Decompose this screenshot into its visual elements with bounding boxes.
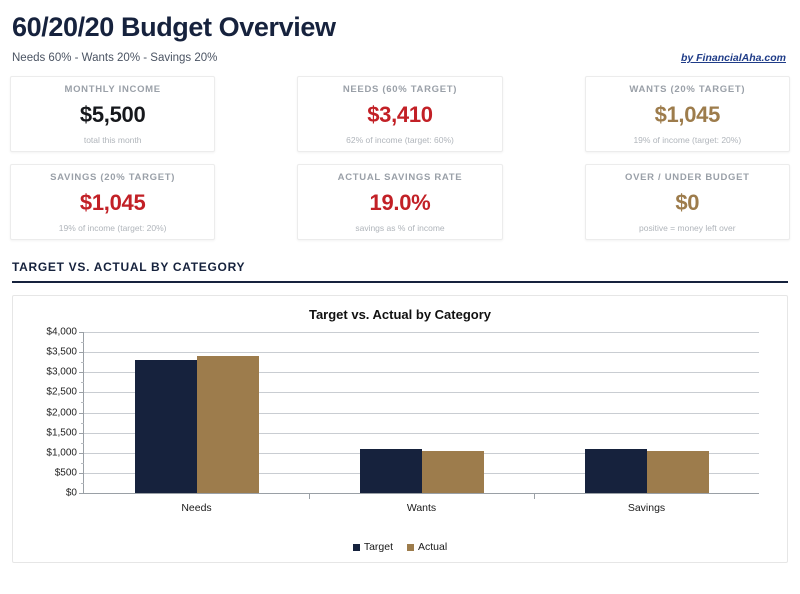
- chart-bar-target[interactable]: [585, 449, 647, 493]
- kpi-card-value: $3,410: [367, 102, 433, 128]
- kpi-card: MONTHLY INCOME$5,500total this month: [10, 76, 215, 152]
- chart-category-label: Savings: [534, 502, 759, 514]
- chart-legend: TargetActual: [13, 541, 787, 553]
- legend-swatch-icon: [407, 544, 414, 551]
- chart-category-group: Savings: [534, 332, 759, 493]
- chart-y-tick-label: $3,500: [46, 347, 84, 358]
- chart-category-tick: [534, 493, 535, 499]
- chart-title: Target vs. Actual by Category: [13, 296, 787, 322]
- chart-plot-area: $0$500$1,000$1,500$2,000$2,500$3,000$3,5…: [83, 332, 759, 494]
- chart-category-group: Needs: [84, 332, 309, 493]
- kpi-card-value: $0: [675, 190, 699, 216]
- chart-bar-actual[interactable]: [647, 451, 709, 493]
- page-title: 60/20/20 Budget Overview: [12, 10, 788, 44]
- kpi-card-value: 19.0%: [370, 190, 431, 216]
- legend-label: Actual: [418, 541, 447, 553]
- chart-category-label: Wants: [309, 502, 534, 514]
- kpi-card-label: WANTS (20% TARGET): [629, 84, 745, 95]
- kpi-card: SAVINGS (20% TARGET)$1,04519% of income …: [10, 164, 215, 240]
- chart-category-group: Wants: [309, 332, 534, 493]
- chart-y-tick-label: $1,500: [46, 427, 84, 438]
- kpi-card-label: NEEDS (60% TARGET): [343, 84, 457, 95]
- chart-y-tick-label: $2,500: [46, 387, 84, 398]
- kpi-card-value: $1,045: [80, 190, 146, 216]
- kpi-card: NEEDS (60% TARGET)$3,41062% of income (t…: [297, 76, 502, 152]
- kpi-card: WANTS (20% TARGET)$1,04519% of income (t…: [585, 76, 790, 152]
- chart-y-tick-label: $1,000: [46, 447, 84, 458]
- legend-label: Target: [364, 541, 393, 553]
- kpi-card-value: $5,500: [80, 102, 146, 128]
- page-subtitle: Needs 60% - Wants 20% - Savings 20%: [12, 52, 217, 64]
- kpi-card-grid: MONTHLY INCOME$5,500total this monthNEED…: [10, 76, 790, 240]
- kpi-card-note: 19% of income (target: 20%): [59, 223, 167, 233]
- kpi-card-label: OVER / UNDER BUDGET: [625, 172, 750, 183]
- kpi-card-value: $1,045: [655, 102, 721, 128]
- kpi-card-note: 19% of income (target: 20%): [633, 135, 741, 145]
- chart-bar-target[interactable]: [360, 449, 422, 493]
- kpi-card-note: savings as % of income: [355, 223, 444, 233]
- chart-y-tick-label: $3,000: [46, 367, 84, 378]
- header-subrow: Needs 60% - Wants 20% - Savings 20% by F…: [12, 52, 788, 64]
- section-header: TARGET VS. ACTUAL BY CATEGORY: [12, 258, 788, 283]
- kpi-card-label: SAVINGS (20% TARGET): [50, 172, 175, 183]
- chart-y-tick-label: $0: [66, 488, 84, 499]
- chart-y-tick-label: $4,000: [46, 327, 84, 338]
- kpi-card-note: total this month: [84, 135, 142, 145]
- chart-plot-wrapper: $0$500$1,000$1,500$2,000$2,500$3,000$3,5…: [21, 332, 759, 524]
- kpi-card-note: 62% of income (target: 60%): [346, 135, 454, 145]
- chart-category-label: Needs: [84, 502, 309, 514]
- kpi-card-note: positive = money left over: [639, 223, 736, 233]
- attribution-link[interactable]: by FinancialAha.com: [681, 52, 786, 64]
- kpi-card: OVER / UNDER BUDGET$0positive = money le…: [585, 164, 790, 240]
- chart-y-tick-label: $500: [55, 467, 84, 478]
- chart-bar-actual[interactable]: [197, 356, 259, 493]
- kpi-card: ACTUAL SAVINGS RATE19.0%savings as % of …: [297, 164, 502, 240]
- chart-legend-item[interactable]: Actual: [407, 541, 447, 553]
- chart-y-tick-label: $2,000: [46, 407, 84, 418]
- chart-bar-actual[interactable]: [422, 451, 484, 493]
- chart-legend-item[interactable]: Target: [353, 541, 393, 553]
- page-header: 60/20/20 Budget Overview Needs 60% - Wan…: [0, 0, 800, 64]
- kpi-card-label: ACTUAL SAVINGS RATE: [338, 172, 463, 183]
- legend-swatch-icon: [353, 544, 360, 551]
- chart-bars-row: NeedsWantsSavings: [84, 332, 759, 493]
- kpi-card-label: MONTHLY INCOME: [64, 84, 160, 95]
- section-header-text: TARGET VS. ACTUAL BY CATEGORY: [12, 260, 245, 274]
- chart-panel: Target vs. Actual by Category $0$500$1,0…: [12, 295, 788, 563]
- chart-bar-target[interactable]: [135, 360, 197, 493]
- chart-category-tick: [309, 493, 310, 499]
